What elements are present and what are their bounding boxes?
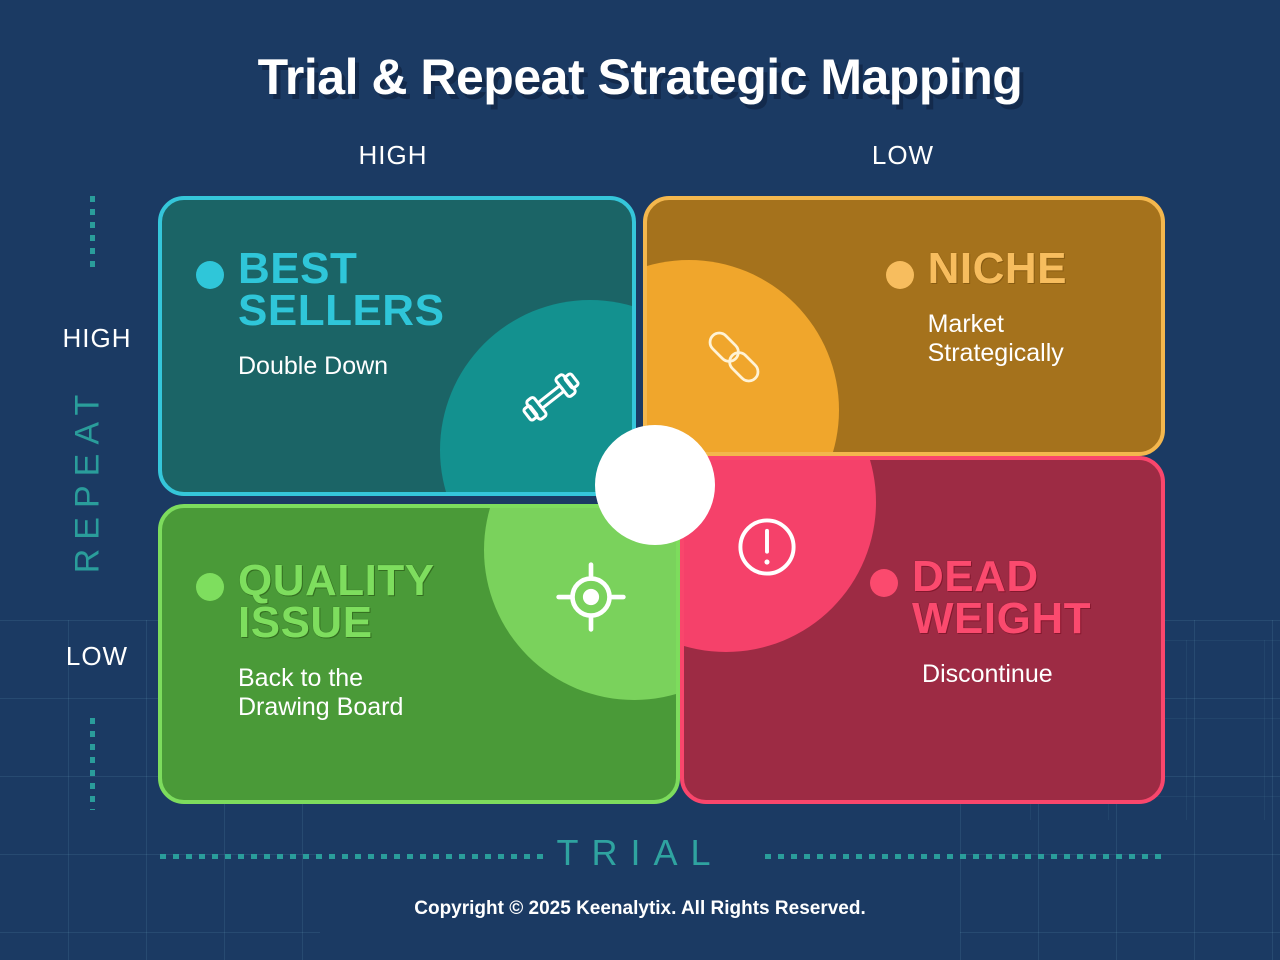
subtitle-line-1: Back to the: [238, 664, 363, 692]
quadrant-quality-issue-heading: QUALITY ISSUE: [196, 560, 435, 644]
quadrant-quality-issue[interactable]: QUALITY ISSUE Back to the Drawing Board: [158, 504, 680, 804]
quadrant-dead-weight-body: DEAD WEIGHT Discontinue: [870, 556, 1091, 689]
quadrant-dead-weight-heading: DEAD WEIGHT: [870, 556, 1091, 640]
quadrant-niche[interactable]: NICHE Market Strategically: [643, 196, 1165, 456]
title-line-2: SELLERS: [238, 286, 444, 335]
subtitle-line-2: Strategically: [928, 339, 1064, 367]
copyright-text: Copyright © 2025 Keenalytix. All Rights …: [0, 898, 1280, 920]
subtitle-line-2: Drawing Board: [238, 693, 403, 721]
row-header-low: LOW: [22, 641, 172, 672]
quadrant-dead-weight-subtitle: Discontinue: [922, 660, 1091, 690]
bullet-dot-icon: [886, 261, 914, 289]
x-axis-dotted-line-right: [765, 854, 1165, 859]
exclamation-circle-icon: [730, 510, 804, 584]
subtitle-line-1: Market: [928, 310, 1004, 338]
quadrant-dead-weight[interactable]: DEAD WEIGHT Discontinue: [680, 456, 1165, 804]
quadrant-quality-issue-body: QUALITY ISSUE Back to the Drawing Board: [196, 560, 435, 723]
title-line-2: ISSUE: [238, 598, 373, 647]
target-crosshair-icon: [554, 560, 628, 634]
bullet-dot-icon: [196, 573, 224, 601]
center-hub-circle: [595, 425, 715, 545]
y-axis-dotted-line-top: [90, 196, 95, 274]
quadrant-niche-body: NICHE Market Strategically: [886, 248, 1067, 369]
x-axis-label-trial: TRIAL: [0, 832, 1280, 874]
column-header-low: LOW: [803, 140, 1003, 171]
y-axis-label-repeat: REPEAT: [69, 380, 108, 580]
quadrant-niche-title: NICHE: [928, 248, 1067, 290]
quadrant-best-sellers-subtitle: Double Down: [238, 352, 444, 382]
quadrant-dead-weight-title: DEAD WEIGHT: [912, 556, 1091, 640]
quadrant-best-sellers-title: BEST SELLERS: [238, 248, 444, 332]
y-axis-dotted-line-bottom: [90, 718, 95, 810]
page-title: Trial & Repeat Strategic Mapping: [0, 48, 1280, 106]
quadrant-quality-issue-subtitle: Back to the Drawing Board: [238, 664, 435, 723]
quadrant-niche-heading: NICHE: [886, 248, 1067, 290]
quadrant-niche-subtitle: Market Strategically: [928, 310, 1067, 369]
chain-link-icon: [697, 320, 771, 394]
quadrant-quality-issue-title: QUALITY ISSUE: [238, 560, 435, 644]
dumbbell-icon: [514, 360, 588, 434]
quadrant-best-sellers-body: BEST SELLERS Double Down: [196, 248, 444, 381]
quadrant-best-sellers-heading: BEST SELLERS: [196, 248, 444, 332]
bullet-dot-icon: [196, 261, 224, 289]
bullet-dot-icon: [870, 569, 898, 597]
title-line-2: WEIGHT: [912, 594, 1091, 643]
column-header-high: HIGH: [293, 140, 493, 171]
row-header-high: HIGH: [22, 323, 172, 354]
quadrant-best-sellers[interactable]: BEST SELLERS Double Down: [158, 196, 636, 496]
